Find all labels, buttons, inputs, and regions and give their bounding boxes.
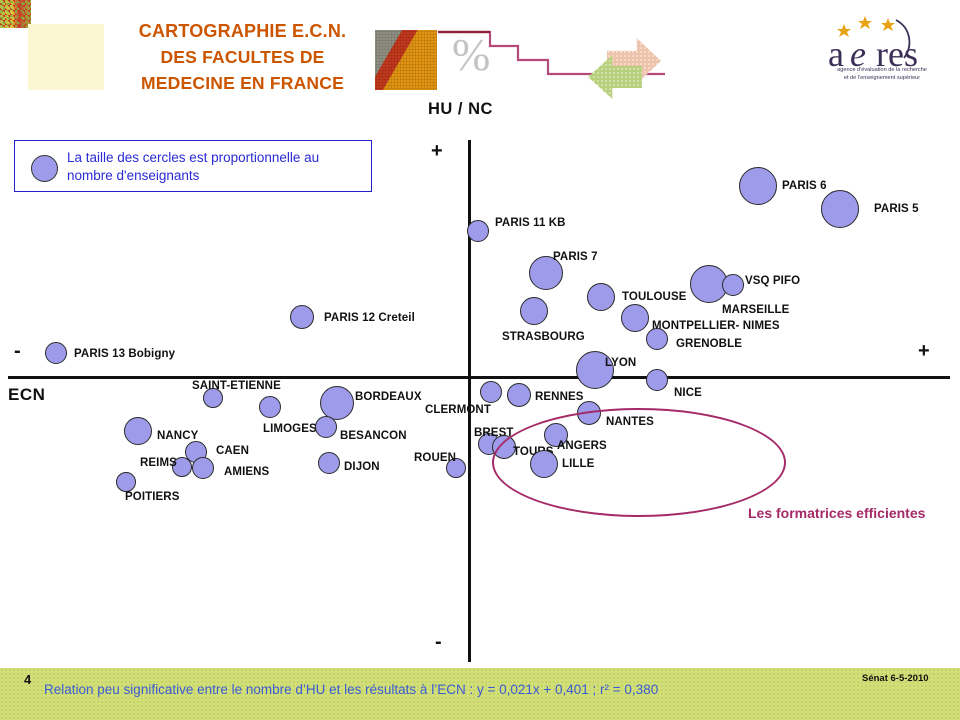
page-title: CARTOGRAPHIE E.C.N. DES FACULTES DE MEDE… <box>110 18 375 96</box>
bubble-point[interactable] <box>507 383 531 407</box>
x-axis-minus-sign: - <box>14 340 21 363</box>
bubble-point[interactable] <box>315 416 337 438</box>
bubble-label: CAEN <box>216 445 249 457</box>
bubble-label: TOULOUSE <box>622 291 686 303</box>
bubble-point[interactable] <box>739 167 777 205</box>
bubble-point[interactable] <box>520 297 548 325</box>
bubble-point[interactable] <box>45 342 67 364</box>
bubble-point[interactable] <box>621 304 649 332</box>
bubble-label: GRENOBLE <box>676 338 742 350</box>
ellipse-caption: Les formatrices efficientes <box>748 505 925 521</box>
bubble-point[interactable] <box>290 305 314 329</box>
title-line-2: DES FACULTES DE <box>110 44 375 70</box>
logo-tagline-line-2: et de l'enseignement supérieur <box>815 74 949 82</box>
bubble-label: PARIS 13 Bobigny <box>74 348 175 360</box>
bubble-label: CLERMONT <box>425 404 491 416</box>
bubble-label: MARSEILLE <box>722 304 789 316</box>
bubble-label: MONTPELLIER- NIMES <box>652 320 780 332</box>
slide-canvas: CARTOGRAPHIE E.C.N. DES FACULTES DE MEDE… <box>0 0 960 720</box>
bubble-label: BESANCON <box>340 430 407 442</box>
bubble-point[interactable] <box>722 274 744 296</box>
bubble-point[interactable] <box>646 328 668 350</box>
y-axis-line <box>468 140 471 662</box>
x-axis-line <box>8 376 950 379</box>
bubble-label: VSQ PIFO <box>745 275 800 287</box>
texture-photo-icon <box>375 30 437 90</box>
bubble-point[interactable] <box>467 220 489 242</box>
footer-caption: Relation peu significative entre le nomb… <box>44 682 658 697</box>
bubble-label: NICE <box>674 387 702 399</box>
bubble-point[interactable] <box>646 369 668 391</box>
legend-text: La taille des cercles est proportionnell… <box>67 149 367 185</box>
bubble-point[interactable] <box>124 417 152 445</box>
bubble-label: PARIS 5 <box>874 203 919 215</box>
bubble-label: DIJON <box>344 461 380 473</box>
title-line-3: MEDECINE EN FRANCE <box>110 70 375 96</box>
y-axis-minus-sign: - <box>435 631 442 654</box>
bubble-point[interactable] <box>192 457 214 479</box>
bubble-point[interactable] <box>259 396 281 418</box>
logo-tagline-line-1: agence d'évaluation de la recherche <box>815 66 949 74</box>
cream-placeholder-box <box>28 24 104 90</box>
bubble-label: NANCY <box>157 430 198 442</box>
bubble-point[interactable] <box>116 472 136 492</box>
title-line-1: CARTOGRAPHIE E.C.N. <box>110 18 375 44</box>
x-axis-plus-sign: + <box>918 340 930 363</box>
logo-tagline: agence d'évaluation de la recherche et d… <box>815 66 949 82</box>
bubble-label: LYON <box>605 357 636 369</box>
mosaic-decoration-icon <box>0 0 31 28</box>
bubble-label: STRASBOURG <box>502 331 585 343</box>
bubble-point[interactable] <box>821 190 859 228</box>
legend-bubble-icon <box>31 155 58 182</box>
bubble-label: ROUEN <box>414 452 456 464</box>
bubble-label: BORDEAUX <box>355 391 422 403</box>
bubble-point[interactable] <box>587 283 615 311</box>
y-axis-plus-sign: + <box>431 140 443 163</box>
bubble-label: REIMS <box>140 457 177 469</box>
bubble-label: POITIERS <box>125 491 179 503</box>
bubble-label: RENNES <box>535 391 584 403</box>
bubble-label: PARIS 7 <box>553 251 598 263</box>
footer-source: Sénat 6-5-2010 <box>862 673 929 684</box>
bubble-point[interactable] <box>318 452 340 474</box>
bubble-label: LIMOGES <box>263 423 317 435</box>
bubble-point[interactable] <box>320 386 354 420</box>
bubble-point[interactable] <box>480 381 502 403</box>
highlight-ellipse <box>492 408 786 517</box>
bubble-label: PARIS 6 <box>782 180 827 192</box>
chart-legend: La taille des cercles est proportionnell… <box>14 140 372 192</box>
bubble-label: SAINT-ETIENNE <box>192 380 281 392</box>
x-axis-title: ECN <box>8 385 45 405</box>
bubble-label: PARIS 11 KB <box>495 217 566 229</box>
bubble-label: PARIS 12 Creteil <box>324 312 415 324</box>
bubble-label: AMIENS <box>224 466 269 478</box>
page-number: 4 <box>24 672 31 687</box>
y-axis-title: HU / NC <box>428 100 493 119</box>
